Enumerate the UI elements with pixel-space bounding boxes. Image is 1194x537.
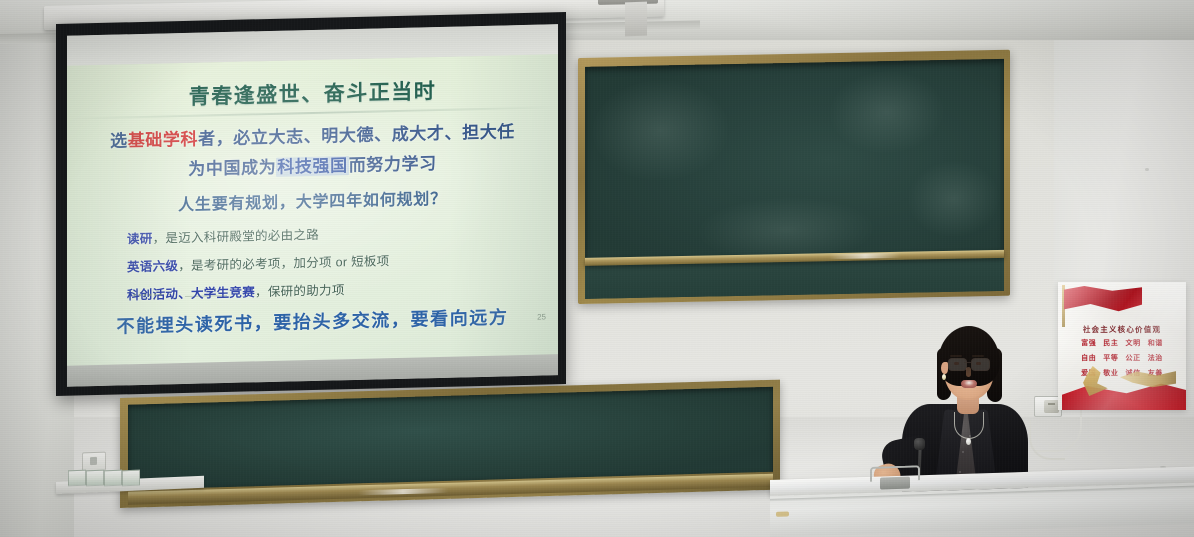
poster-row: 富强 民主 文明 和谐 [1058,338,1186,348]
bullet-text: ，保研的助力项 [255,283,345,299]
poster-value: 自由 [1081,353,1096,363]
core-values-poster: 社会主义核心价值观 富强 民主 文明 和谐 自由 平等 公正 法治 爱国 敬业 … [1058,282,1186,410]
poster-value: 富强 [1081,338,1096,348]
chalk-box[interactable] [104,470,122,487]
line1-red-highlight: 基础学科 [128,130,198,151]
poster-value: 平等 [1103,353,1118,363]
earring [942,374,946,380]
screen-surface: 青春逢盛世、奋斗正当时 选基础学科者，必立大志、明大德、成大才、担大任 为中国成… [67,24,558,387]
poster-value: 公正 [1126,353,1141,363]
projection-screen[interactable]: 青春逢盛世、奋斗正当时 选基础学科者，必立大志、明大德、成大才、担大任 为中国成… [56,12,566,396]
light-switch[interactable] [82,452,106,472]
line2-blue-highlight: 科技强国 [276,156,348,177]
chalk-box[interactable] [122,470,140,487]
podium-latch[interactable] [880,477,910,490]
poster-row: 自由 平等 公正 法治 [1058,353,1186,363]
slide-ellipsis: •••••• [133,289,164,300]
bullet-keyword: 英语六级 [127,259,178,274]
ear [941,362,948,374]
line2-prefix: 为中国成为 [188,158,276,179]
bullet-keyword: 读研 [127,232,153,247]
poster-value: 敬业 [1103,368,1118,378]
eyebrow-left [950,355,962,357]
eye-right [976,362,981,365]
nose [966,367,971,377]
blackboard-main[interactable] [578,50,1010,304]
line2-suffix: 而努力学习 [349,154,437,175]
eye-left [954,362,959,365]
wall-blemish [1145,168,1149,171]
line1-suffix: 者，必立大志、明大德、成大才、担大任 [198,122,515,148]
hair [938,326,1000,386]
mouth [961,380,977,388]
poster-value: 和谐 [1148,338,1163,348]
poster-value: 法治 [1148,353,1163,363]
slide-line-2: 为中国成为科技强国而努力学习 [75,146,550,182]
eyebrow-right [972,355,984,357]
projected-slide: 青春逢盛世、奋斗正当时 选基础学科者，必立大志、明大德、成大才、担大任 为中国成… [67,54,558,376]
plug-prong [1048,403,1055,405]
eyeglasses-bridge [964,362,972,363]
line1-prefix: 选 [110,131,128,150]
chalk-piece[interactable] [776,511,789,516]
chalk-box[interactable] [86,470,104,487]
bullet-text: ，是考研的必考项，加分项 or 短板项 [178,254,389,273]
switch-rocker[interactable] [90,457,97,465]
microphone-icon[interactable] [914,438,925,450]
necklace-pendant [966,438,971,445]
bullet-text: ，是迈入科研殿堂的必由之路 [153,228,319,246]
poster-value: 民主 [1103,338,1118,348]
slide-page-number: 25 [537,312,546,321]
housing-mount-bracket [625,2,647,37]
list-item: 英语六级，是考研的必考项，加分项 or 短板项 [127,247,532,276]
blackboard-lower-left[interactable] [120,380,780,508]
slide-question: 人生要有规划，大学四年如何规划？ [75,182,550,217]
classroom-scene: 青春逢盛世、奋斗正当时 选基础学科者，必立大志、明大德、成大才、担大任 为中国成… [0,0,1194,537]
slide-bullet-list: 读研，是迈入科研殿堂的必由之路 英语六级，是考研的必考项，加分项 or 短板项 … [127,219,532,313]
chalk-box[interactable] [68,470,86,487]
poster-value: 文明 [1126,338,1141,348]
power-plug[interactable] [1044,400,1059,413]
list-item: 读研，是迈入科研殿堂的必由之路 [127,219,532,248]
blackboard-left-surface[interactable] [128,387,773,490]
red-flag-graphic [1064,286,1142,316]
list-item: 科创活动、大学生竞赛，保研的助力项 [127,275,532,304]
poster-title: 社会主义核心价值观 [1058,324,1186,335]
